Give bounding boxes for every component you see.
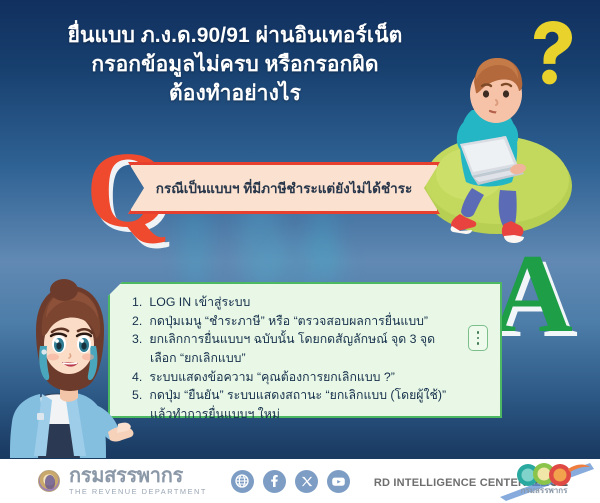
organization-name-en: THE REVENUE DEPARTMENT [69, 488, 207, 495]
facebook-glyph [267, 474, 281, 488]
dot [477, 331, 480, 334]
vertical-three-dots-icon[interactable] [468, 325, 488, 351]
organization-name-th: กรมสรรพากร [69, 466, 207, 486]
answer-panel: 1. LOG IN เข้าสู่ระบบ 2. กดปุ่มเมนู “ชำร… [108, 282, 502, 418]
youtube-icon[interactable] [327, 470, 350, 493]
list-item: 5. กดปุ่ม “ยืนยัน” ระบบแสดงสถานะ “ยกเลิก… [132, 386, 490, 405]
poster-canvas: ยื่นแบบ ภ.ง.ด.90/91 ผ่านอินเทอร์เน็ต กรอ… [0, 0, 600, 503]
question-ribbon: กรณีเป็นแบบฯ ที่มีภาษีชำระแต่ยังไม่ได้ชำ… [128, 162, 440, 214]
title-line-1: ยื่นแบบ ภ.ง.ด.90/91 ผ่านอินเทอร์เน็ต [0, 22, 470, 51]
question-text: กรณีเป็นแบบฯ ที่มีภาษีชำระแต่ยังไม่ได้ชำ… [138, 177, 430, 199]
step-text: กดปุ่ม “ยืนยัน” ระบบแสดงสถานะ “ยกเลิกแบบ… [149, 388, 446, 402]
page-title: ยื่นแบบ ภ.ง.ด.90/91 ผ่านอินเทอร์เน็ต กรอ… [0, 22, 470, 109]
globe-glyph [235, 474, 249, 488]
female-presenter-illustration [0, 272, 148, 458]
badge-text: กรมสรรพากร [521, 486, 569, 495]
revenue-department-seal-icon [38, 470, 60, 492]
list-item: 1. LOG IN เข้าสู่ระบบ [132, 293, 490, 312]
step-text: กดปุ่มเมนู “ชำระภาษี” หรือ “ตรวจสอบผลการ… [149, 314, 428, 328]
a-letter: A [492, 238, 573, 350]
organization-name: กรมสรรพากร THE REVENUE DEPARTMENT [69, 466, 207, 495]
facebook-icon[interactable] [263, 470, 286, 493]
x-glyph [300, 475, 313, 488]
dot [477, 337, 480, 340]
list-item: 3. ยกเลิกการยื่นแบบฯ ฉบับนั้น โดยกดสัญลั… [132, 330, 490, 349]
step-continuation: เลือก “ยกเลิกแบบ” [132, 349, 490, 368]
step-text: LOG IN เข้าสู่ระบบ [149, 295, 250, 309]
steps-list: 1. LOG IN เข้าสู่ระบบ 2. กดปุ่มเมนู “ชำร… [132, 293, 490, 424]
footer-bar: กรมสรรพากร THE REVENUE DEPARTMENT [0, 459, 600, 503]
watermark-blob [178, 205, 212, 293]
x-twitter-icon[interactable] [295, 470, 318, 493]
youtube-glyph [331, 475, 346, 488]
step-text: ระบบแสดงข้อความ “คุณต้องการยกเลิกแบบ ?” [149, 370, 394, 384]
title-line-3: ต้องทำอย่างไร [0, 80, 470, 109]
question-mark-icon [522, 18, 582, 88]
rd-anniversary-badge-icon: กรมสรรพากร [498, 461, 594, 501]
social-links [231, 470, 350, 493]
title-line-2: กรอกข้อมูลไม่ครบ หรือกรอกผิด [0, 51, 470, 80]
step-text: ยกเลิกการยื่นแบบฯ ฉบับนั้น โดยกดสัญลักษณ… [149, 332, 435, 346]
list-item: 4. ระบบแสดงข้อความ “คุณต้องการยกเลิกแบบ … [132, 368, 490, 387]
dot [477, 342, 480, 345]
list-item: 2. กดปุ่มเมนู “ชำระภาษี” หรือ “ตรวจสอบผล… [132, 312, 490, 331]
globe-icon[interactable] [231, 470, 254, 493]
